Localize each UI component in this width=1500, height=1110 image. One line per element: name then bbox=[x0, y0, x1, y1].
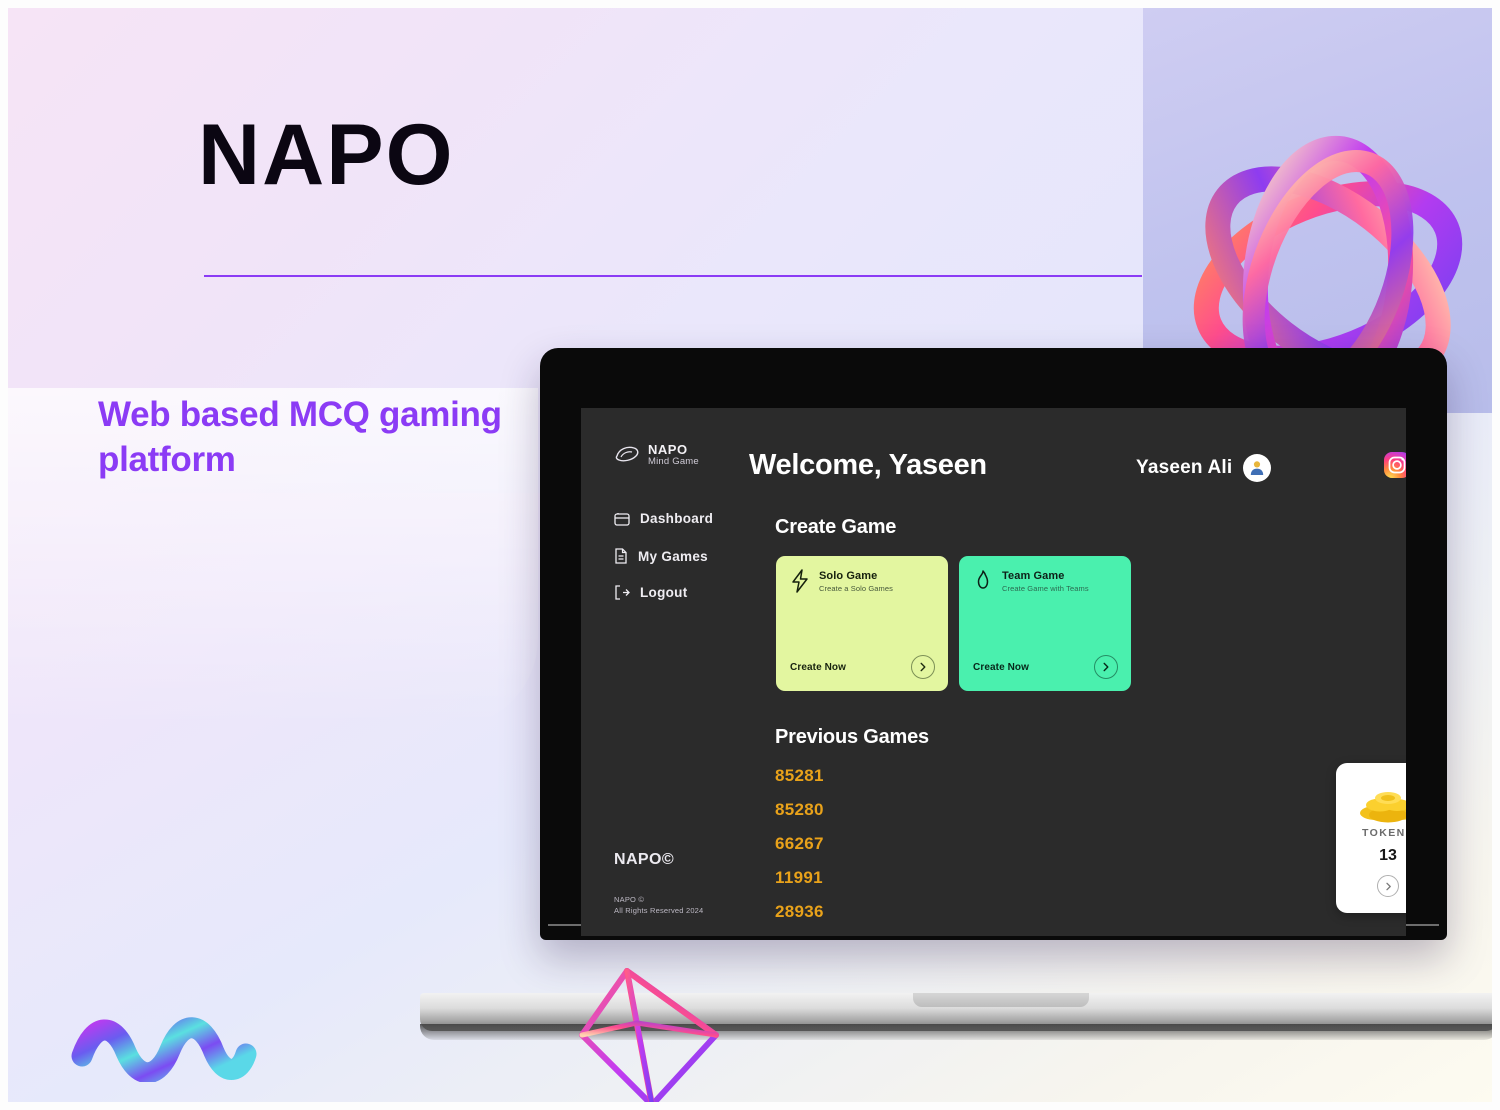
team-game-card[interactable]: Team Game Create Game with Teams Create … bbox=[959, 556, 1131, 691]
sidebar-item-label: Logout bbox=[640, 585, 688, 600]
octahedron-wireframe-3d-icon bbox=[564, 963, 739, 1102]
sidebar-item-my-games[interactable]: My Games bbox=[614, 548, 708, 564]
poster-stage: NAPO Web based MCQ gaming platform bbox=[8, 8, 1492, 1102]
sidebar-footer-brand: NAPO© bbox=[614, 851, 674, 869]
tokens-next-button[interactable] bbox=[1336, 875, 1406, 897]
team-create-now-button[interactable]: Create Now bbox=[973, 655, 1118, 679]
previous-games-list: 85281 85280 66267 11991 28936 bbox=[775, 766, 824, 936]
shell-logo-icon bbox=[614, 445, 640, 465]
solo-create-now-button[interactable]: Create Now bbox=[790, 655, 935, 679]
sidebar-item-label: My Games bbox=[638, 549, 708, 564]
tokens-label: TOKENS bbox=[1336, 827, 1406, 839]
list-item[interactable]: 66267 bbox=[775, 834, 824, 854]
user-avatar-icon bbox=[1248, 459, 1266, 477]
file-icon bbox=[614, 548, 628, 564]
list-item[interactable]: 28936 bbox=[775, 902, 824, 922]
card-title: Team Game bbox=[1002, 570, 1089, 582]
user-name: Yaseen Ali bbox=[1136, 457, 1232, 479]
laptop-notch bbox=[913, 993, 1089, 1007]
sidebar-footer-legal: NAPO © All Rights Reserved 2024 bbox=[614, 895, 703, 917]
list-item[interactable]: 11991 bbox=[775, 868, 824, 888]
list-item[interactable]: 85280 bbox=[775, 800, 824, 820]
flame-icon bbox=[973, 569, 993, 593]
tokens-card[interactable]: TOKENS 13 bbox=[1336, 763, 1406, 913]
welcome-heading: Welcome, Yaseen bbox=[749, 449, 987, 482]
hero-divider bbox=[204, 275, 1142, 277]
coin-stack-icon bbox=[1336, 785, 1406, 823]
dashboard-icon bbox=[614, 512, 630, 526]
chevron-right-icon bbox=[1094, 655, 1118, 679]
footer-legal-line1: NAPO © bbox=[614, 895, 703, 906]
tokens-value: 13 bbox=[1336, 847, 1406, 865]
page-frame: NAPO Web based MCQ gaming platform bbox=[0, 0, 1500, 1110]
avatar[interactable] bbox=[1243, 454, 1271, 482]
wave-squiggle-3d-icon bbox=[68, 1010, 258, 1082]
hero-subtitle: Web based MCQ gaming platform bbox=[98, 393, 518, 483]
chevron-right-icon bbox=[1377, 875, 1399, 897]
sidebar-brand[interactable]: NAPO Mind Game bbox=[614, 443, 699, 467]
previous-games-heading: Previous Games bbox=[775, 726, 929, 749]
card-description: Create Game with Teams bbox=[1002, 584, 1089, 593]
hero-title: NAPO bbox=[198, 112, 454, 198]
instagram-icon bbox=[1384, 452, 1406, 478]
instagram-link[interactable] bbox=[1384, 452, 1406, 483]
card-description: Create a Solo Games bbox=[819, 584, 893, 593]
card-title: Solo Game bbox=[819, 570, 893, 582]
lightning-bolt-icon bbox=[790, 569, 810, 593]
user-chip[interactable]: Yaseen Ali bbox=[1136, 454, 1271, 482]
solo-game-card[interactable]: Solo Game Create a Solo Games Create Now bbox=[776, 556, 948, 691]
app-screen: NAPO Mind Game Dashboard bbox=[581, 408, 1406, 936]
brand-tagline: Mind Game bbox=[648, 457, 699, 467]
list-item[interactable]: 85281 bbox=[775, 766, 824, 786]
logout-icon bbox=[614, 585, 630, 600]
cta-label: Create Now bbox=[973, 662, 1029, 673]
sidebar: NAPO Mind Game Dashboard bbox=[581, 408, 746, 936]
sidebar-item-logout[interactable]: Logout bbox=[614, 585, 688, 600]
chevron-right-icon bbox=[911, 655, 935, 679]
sidebar-item-dashboard[interactable]: Dashboard bbox=[614, 511, 713, 526]
footer-legal-line2: All Rights Reserved 2024 bbox=[614, 906, 703, 917]
cta-label: Create Now bbox=[790, 662, 846, 673]
sidebar-item-label: Dashboard bbox=[640, 511, 713, 526]
create-game-heading: Create Game bbox=[775, 516, 896, 539]
brand-name: NAPO bbox=[648, 443, 699, 457]
